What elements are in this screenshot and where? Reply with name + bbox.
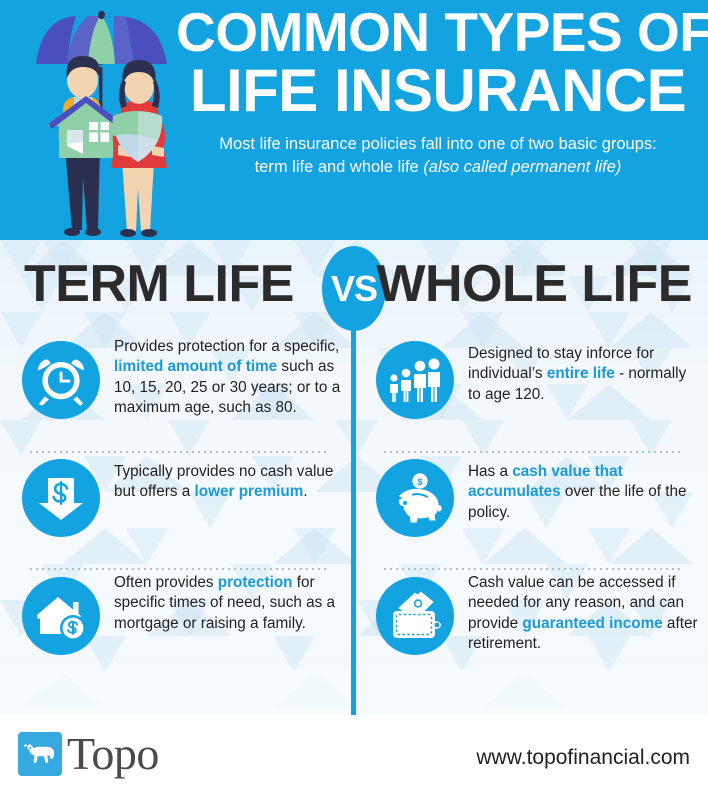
term-life-item-2-text: Typically provides no cash value but off… (114, 453, 348, 503)
text-part: . (303, 483, 307, 500)
alarm-clock-icon (22, 341, 100, 419)
whole-life-item-2: $ Has a cash value that accumulates over… (362, 453, 702, 571)
couple-with-umbrella-illustration (18, 8, 186, 240)
term-life-item-1: Provides protection for a specific, limi… (8, 335, 348, 453)
header-subtitle-line-2: term life and whole life (also called pe… (176, 156, 700, 179)
logo-wordmark: Topo (67, 731, 159, 777)
header-subtitle-line-1: Most life insurance policies fall into o… (176, 133, 700, 156)
page-title-line-1: Common types of (176, 6, 700, 60)
highlight-part: protection (218, 574, 293, 591)
whole-life-column: Designed to stay inforce for individual’… (362, 335, 702, 689)
brand-logo[interactable]: Topo (18, 731, 159, 777)
comparison-columns: Provides protection for a specific, limi… (0, 335, 708, 715)
piggy-bank-icon: $ (376, 459, 454, 537)
text-part: Often provides (114, 574, 218, 591)
term-life-item-3: Often provides protection for specific t… (8, 571, 348, 689)
wallet-with-cash-icon (376, 577, 454, 655)
row-divider-right-1 (382, 451, 682, 453)
whole-life-heading: Whole Life (376, 254, 692, 314)
whole-life-item-3-text: Cash value can be accessed if needed for… (468, 571, 702, 654)
comparison-section: Term Life VS Whole Life (0, 240, 708, 715)
text-part: Provides protection for a specific, (114, 338, 339, 355)
header-subtitle-plain: term life and whole life (255, 158, 424, 176)
highlight-part: guaranteed income (522, 615, 662, 632)
whole-life-item-2-text: Has a cash value that accumulates over t… (468, 453, 702, 523)
term-life-column: Provides protection for a specific, limi… (8, 335, 348, 689)
header-banner: Common types of Life insurance Most life… (0, 0, 708, 240)
whole-life-item-3: Cash value can be accessed if needed for… (362, 571, 702, 689)
comparison-headings: Term Life VS Whole Life (0, 246, 708, 322)
whole-life-item-1-text: Designed to stay inforce for individual’… (468, 335, 702, 405)
title-block: Common types of Life insurance Most life… (176, 6, 700, 180)
term-life-item-2: Typically provides no cash value but off… (8, 453, 348, 571)
website-url[interactable]: www.topofinancial.com (476, 746, 690, 770)
term-life-item-3-text: Often provides protection for specific t… (114, 571, 348, 634)
house-with-dollar-coin-icon (22, 577, 100, 655)
text-part: Has a (468, 463, 512, 480)
header-subtitle: Most life insurance policies fall into o… (176, 133, 700, 180)
header-subtitle-italic: (also called permanent life) (423, 158, 621, 176)
svg-text:$: $ (417, 477, 422, 487)
bison-logo-icon (18, 732, 62, 776)
footer-bar: Topo www.topofinancial.com (0, 715, 708, 800)
highlight-part: entire life (547, 365, 615, 382)
highlight-part: limited amount of time (114, 358, 277, 375)
row-divider-left-1 (28, 451, 328, 453)
term-life-item-1-text: Provides protection for a specific, limi… (114, 335, 348, 418)
whole-life-item-1: Designed to stay inforce for individual’… (362, 335, 702, 453)
row-divider-right-2 (382, 568, 682, 570)
highlight-part: lower premium (195, 483, 304, 500)
infographic-page: Common types of Life insurance Most life… (0, 0, 708, 800)
term-life-heading: Term Life (24, 254, 294, 314)
family-group-icon (376, 341, 454, 419)
row-divider-left-2 (28, 568, 328, 570)
page-title-line-2: Life insurance (176, 62, 700, 121)
dollar-down-arrow-icon (22, 459, 100, 537)
